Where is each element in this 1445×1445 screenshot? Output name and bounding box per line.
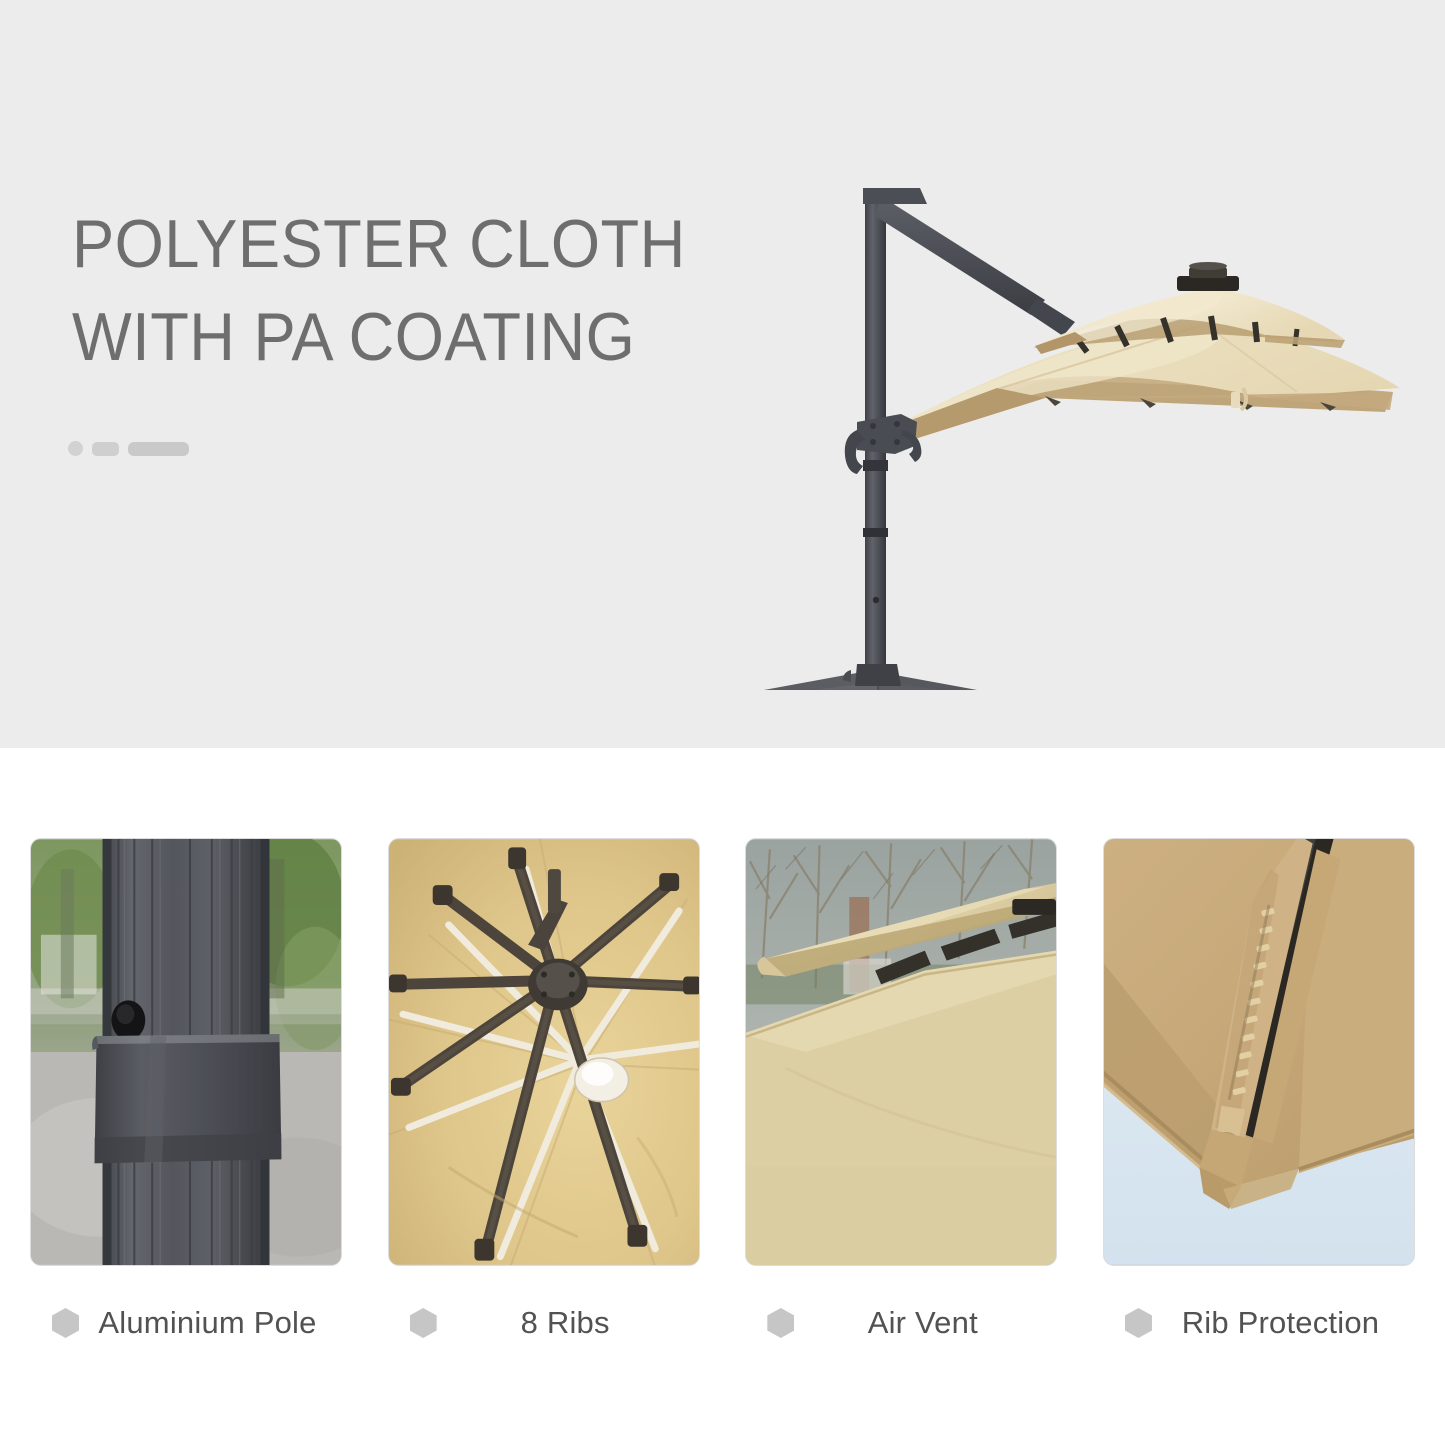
caption-aluminium-pole: Aluminium Pole xyxy=(30,1288,342,1358)
marker-dot-icon xyxy=(68,441,83,456)
product-feature-page: POLYESTER CLOTH WITH PA COATING xyxy=(0,0,1445,1445)
caption-label: Aluminium Pole xyxy=(79,1305,342,1341)
canopy-underside-ribs-photo xyxy=(389,839,699,1265)
hexagon-bullet-icon xyxy=(1125,1308,1152,1338)
cantilever-umbrella-illustration xyxy=(745,130,1405,690)
thumbnail-rib-protection[interactable] xyxy=(1103,838,1415,1266)
hexagon-bullet-icon xyxy=(410,1308,437,1338)
feature-thumbnail-gallery xyxy=(0,838,1445,1278)
page-title: POLYESTER CLOTH WITH PA COATING xyxy=(72,198,779,384)
hexagon-bullet-icon xyxy=(52,1308,79,1338)
caption-8-ribs: 8 Ribs xyxy=(388,1288,700,1358)
air-vent-photo xyxy=(746,839,1056,1265)
caption-label: 8 Ribs xyxy=(437,1305,700,1341)
thumbnail-air-vent[interactable] xyxy=(745,838,1057,1266)
caption-label: Rib Protection xyxy=(1152,1305,1415,1341)
hero-panel: POLYESTER CLOTH WITH PA COATING xyxy=(0,0,1445,748)
aluminium-pole-photo xyxy=(31,839,341,1265)
caption-rib-protection: Rib Protection xyxy=(1103,1288,1415,1358)
thumbnail-aluminium-pole[interactable] xyxy=(30,838,342,1266)
progress-marker xyxy=(68,441,189,456)
caption-air-vent: Air Vent xyxy=(745,1288,1057,1358)
thumbnail-8-ribs[interactable] xyxy=(388,838,700,1266)
marker-dash-long-icon xyxy=(128,442,189,456)
feature-caption-row: Aluminium Pole 8 Ribs Air Vent Rib Prote… xyxy=(0,1288,1445,1358)
caption-label: Air Vent xyxy=(794,1305,1057,1341)
marker-dash-short-icon xyxy=(92,442,119,456)
rib-protection-zipper-photo xyxy=(1104,839,1414,1265)
hexagon-bullet-icon xyxy=(767,1308,794,1338)
